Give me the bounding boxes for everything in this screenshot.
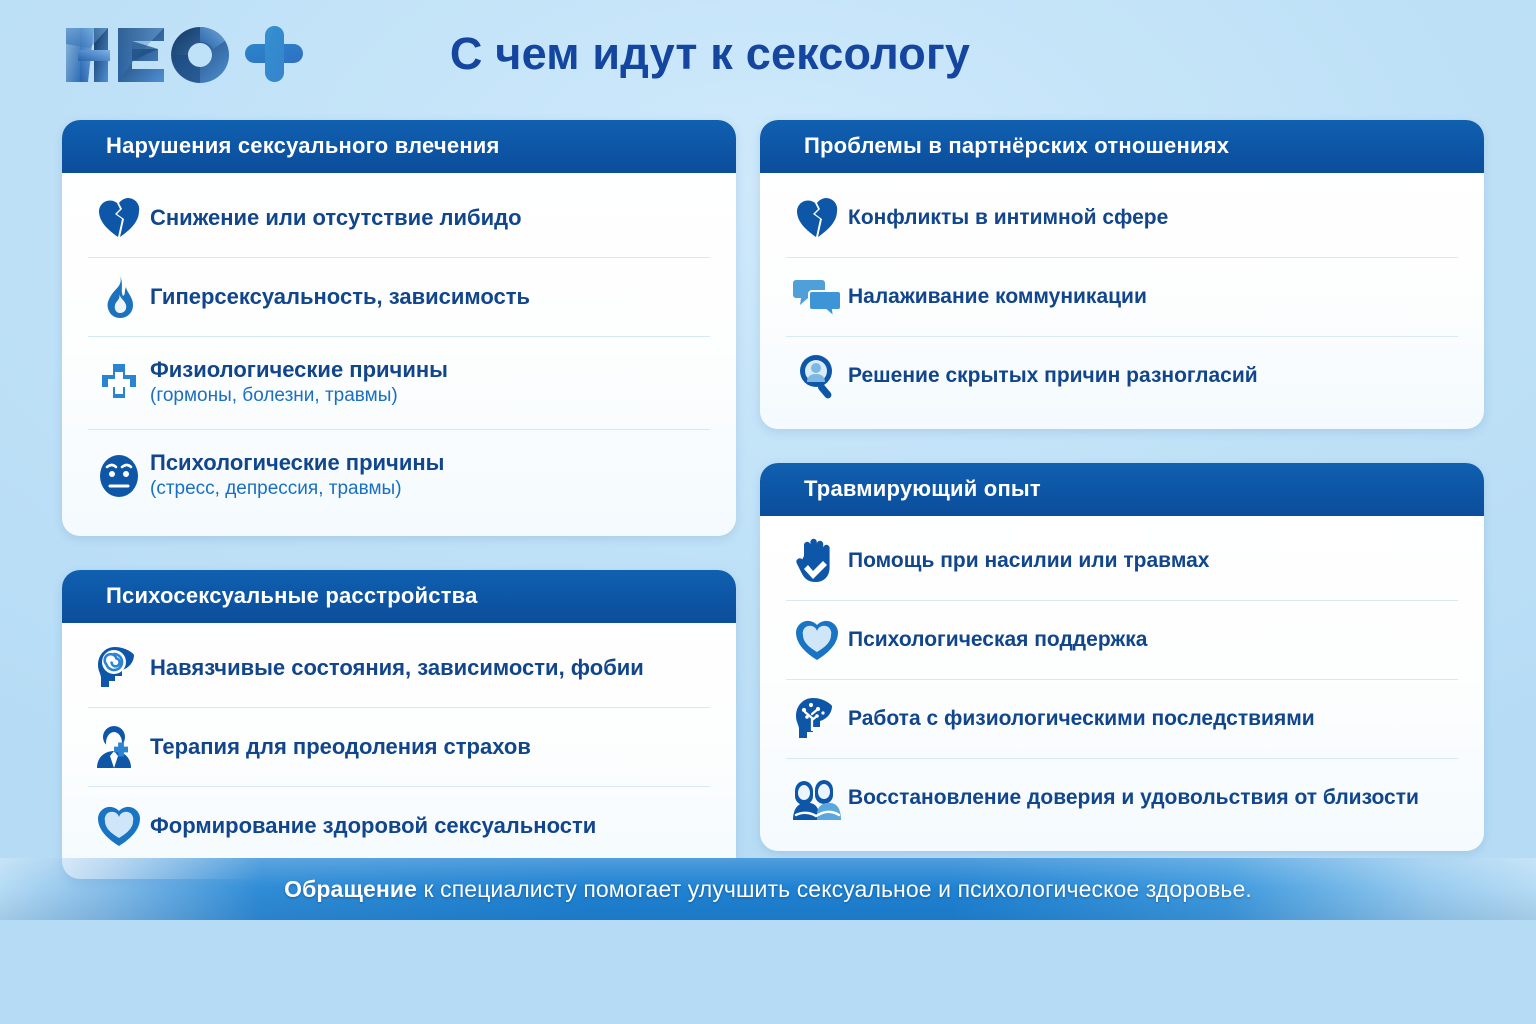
head-tree-icon xyxy=(786,691,848,747)
list-item-text: Терапия для преодоления страхов xyxy=(150,735,531,760)
list-item[interactable]: Работа с физиологическими последствиями xyxy=(786,680,1458,759)
list-item[interactable]: Помощь при насилии или травмах xyxy=(786,522,1458,601)
list-item-label: Налаживание коммуникации xyxy=(848,285,1147,309)
list-item-label: Терапия для преодоления страхов xyxy=(150,735,531,760)
list-item-text: Налаживание коммуникации xyxy=(848,285,1147,309)
list-item[interactable]: Конфликты в интимной сфере xyxy=(786,179,1458,258)
card-problemy-v-partnerskih-otnosheniyah: Проблемы в партнёрских отношениях Конфли… xyxy=(760,120,1484,429)
magnifier-person-icon xyxy=(786,348,848,404)
list-item-label: Навязчивые состояния, зависимости, фобии xyxy=(150,656,644,681)
list-item-label: Психологическая поддержка xyxy=(848,628,1147,652)
chat-bubbles-icon xyxy=(786,269,848,325)
person-plus-icon xyxy=(88,719,150,775)
list-item-label: Решение скрытых причин разногласий xyxy=(848,364,1258,388)
sad-face-icon xyxy=(88,448,150,504)
brand-logo xyxy=(60,22,310,88)
list-item-label: Помощь при насилии или травмах xyxy=(848,549,1209,573)
list-item-label: Конфликты в интимной сфере xyxy=(848,206,1168,230)
list-item-text: Психологические причины(стресс, депресси… xyxy=(150,451,444,501)
heart-inner-icon xyxy=(88,798,150,854)
card-travmiruyushchiy-opyt: Травмирующий опыт Помощь при насилии или… xyxy=(760,463,1484,851)
page-header: С чем идут к сексологу xyxy=(0,0,1536,112)
list-item-text: Помощь при насилии или травмах xyxy=(848,549,1209,573)
page-title: С чем идут к сексологу xyxy=(380,23,1040,85)
list-item-subtext: (стресс, депрессия, травмы) xyxy=(150,478,444,501)
heart-inner-icon xyxy=(786,612,848,668)
card-header-travmiruyushchiy-opyt: Травмирующий опыт xyxy=(760,463,1484,516)
list-item-text: Решение скрытых причин разногласий xyxy=(848,364,1258,388)
list-item[interactable]: Психологическая поддержка xyxy=(786,601,1458,680)
list-item[interactable]: Терапия для преодоления страхов xyxy=(88,708,710,787)
card-body-travmiruyushchiy-opyt: Помощь при насилии или травмах Психологи… xyxy=(760,516,1484,851)
card-body-narusheniya-seksualnogo-vlecheniya: Снижение или отсутствие либидо Гиперсекс… xyxy=(62,173,736,536)
footer-banner: Обращение к специалисту помогает улучшит… xyxy=(0,858,1536,920)
list-item[interactable]: Восстановление доверия и удовольствия от… xyxy=(786,759,1458,837)
card-header-problemy-v-partnerskih-otnosheniyah: Проблемы в партнёрских отношениях xyxy=(760,120,1484,173)
list-item[interactable]: Решение скрытых причин разногласий xyxy=(786,337,1458,415)
footer-text: Обращение к специалисту помогает улучшит… xyxy=(284,876,1252,903)
list-item-label: Работа с физиологическими последствиями xyxy=(848,707,1315,731)
list-item[interactable]: Гиперсексуальность, зависимость xyxy=(88,258,710,337)
list-item[interactable]: Навязчивые состояния, зависимости, фобии xyxy=(88,629,710,708)
list-item-label: Снижение или отсутствие либидо xyxy=(150,206,522,231)
card-header-narusheniya-seksualnogo-vlecheniya: Нарушения сексуального влечения xyxy=(62,120,736,173)
card-psihoseksualnye-rasstroystva: Психосексуальные расстройства Навязчивые… xyxy=(62,570,736,879)
flame-icon xyxy=(88,269,150,325)
medical-cross-icon xyxy=(88,355,150,411)
card-narusheniya-seksualnogo-vlecheniya: Нарушения сексуального влечения Снижение… xyxy=(62,120,736,536)
footer-lead: Обращение xyxy=(284,876,417,902)
right-column: Проблемы в партнёрских отношениях Конфли… xyxy=(760,120,1484,885)
left-column: Нарушения сексуального влечения Снижение… xyxy=(62,120,736,913)
hand-check-icon xyxy=(786,533,848,589)
list-item-label: Формирование здоровой сексуальности xyxy=(150,814,596,839)
list-item-label: Гиперсексуальность, зависимость xyxy=(150,285,530,310)
footer-rest: к специалисту помогает улучшить сексуаль… xyxy=(417,876,1252,902)
list-item-label: Физиологические причины xyxy=(150,358,448,383)
list-item-subtext: (гормоны, болезни, травмы) xyxy=(150,385,448,408)
head-spiral-icon xyxy=(88,640,150,696)
list-item-text: Психологическая поддержка xyxy=(848,628,1147,652)
list-item[interactable]: Налаживание коммуникации xyxy=(786,258,1458,337)
list-item-label: Восстановление доверия и удовольствия от… xyxy=(848,786,1419,810)
list-item-text: Гиперсексуальность, зависимость xyxy=(150,285,530,310)
broken-heart-icon xyxy=(786,190,848,246)
list-item-text: Формирование здоровой сексуальности xyxy=(150,814,596,839)
list-item-text: Навязчивые состояния, зависимости, фобии xyxy=(150,656,644,681)
list-item[interactable]: Психологические причины(стресс, депресси… xyxy=(88,430,710,522)
list-item-text: Снижение или отсутствие либидо xyxy=(150,206,522,231)
list-item[interactable]: Формирование здоровой сексуальности xyxy=(88,787,710,865)
broken-heart-icon xyxy=(88,190,150,246)
couple-embrace-icon xyxy=(786,770,848,826)
card-body-problemy-v-partnerskih-otnosheniyah: Конфликты в интимной сфере Налаживание к… xyxy=(760,173,1484,429)
list-item-text: Физиологические причины(гормоны, болезни… xyxy=(150,358,448,408)
list-item[interactable]: Снижение или отсутствие либидо xyxy=(88,179,710,258)
list-item-text: Конфликты в интимной сфере xyxy=(848,206,1168,230)
card-body-psihoseksualnye-rasstroystva: Навязчивые состояния, зависимости, фобии… xyxy=(62,623,736,879)
list-item-text: Работа с физиологическими последствиями xyxy=(848,707,1315,731)
list-item-label: Психологические причины xyxy=(150,451,444,476)
list-item-text: Восстановление доверия и удовольствия от… xyxy=(848,786,1419,810)
list-item[interactable]: Физиологические причины(гормоны, болезни… xyxy=(88,337,710,430)
card-header-psihoseksualnye-rasstroystva: Психосексуальные расстройства xyxy=(62,570,736,623)
